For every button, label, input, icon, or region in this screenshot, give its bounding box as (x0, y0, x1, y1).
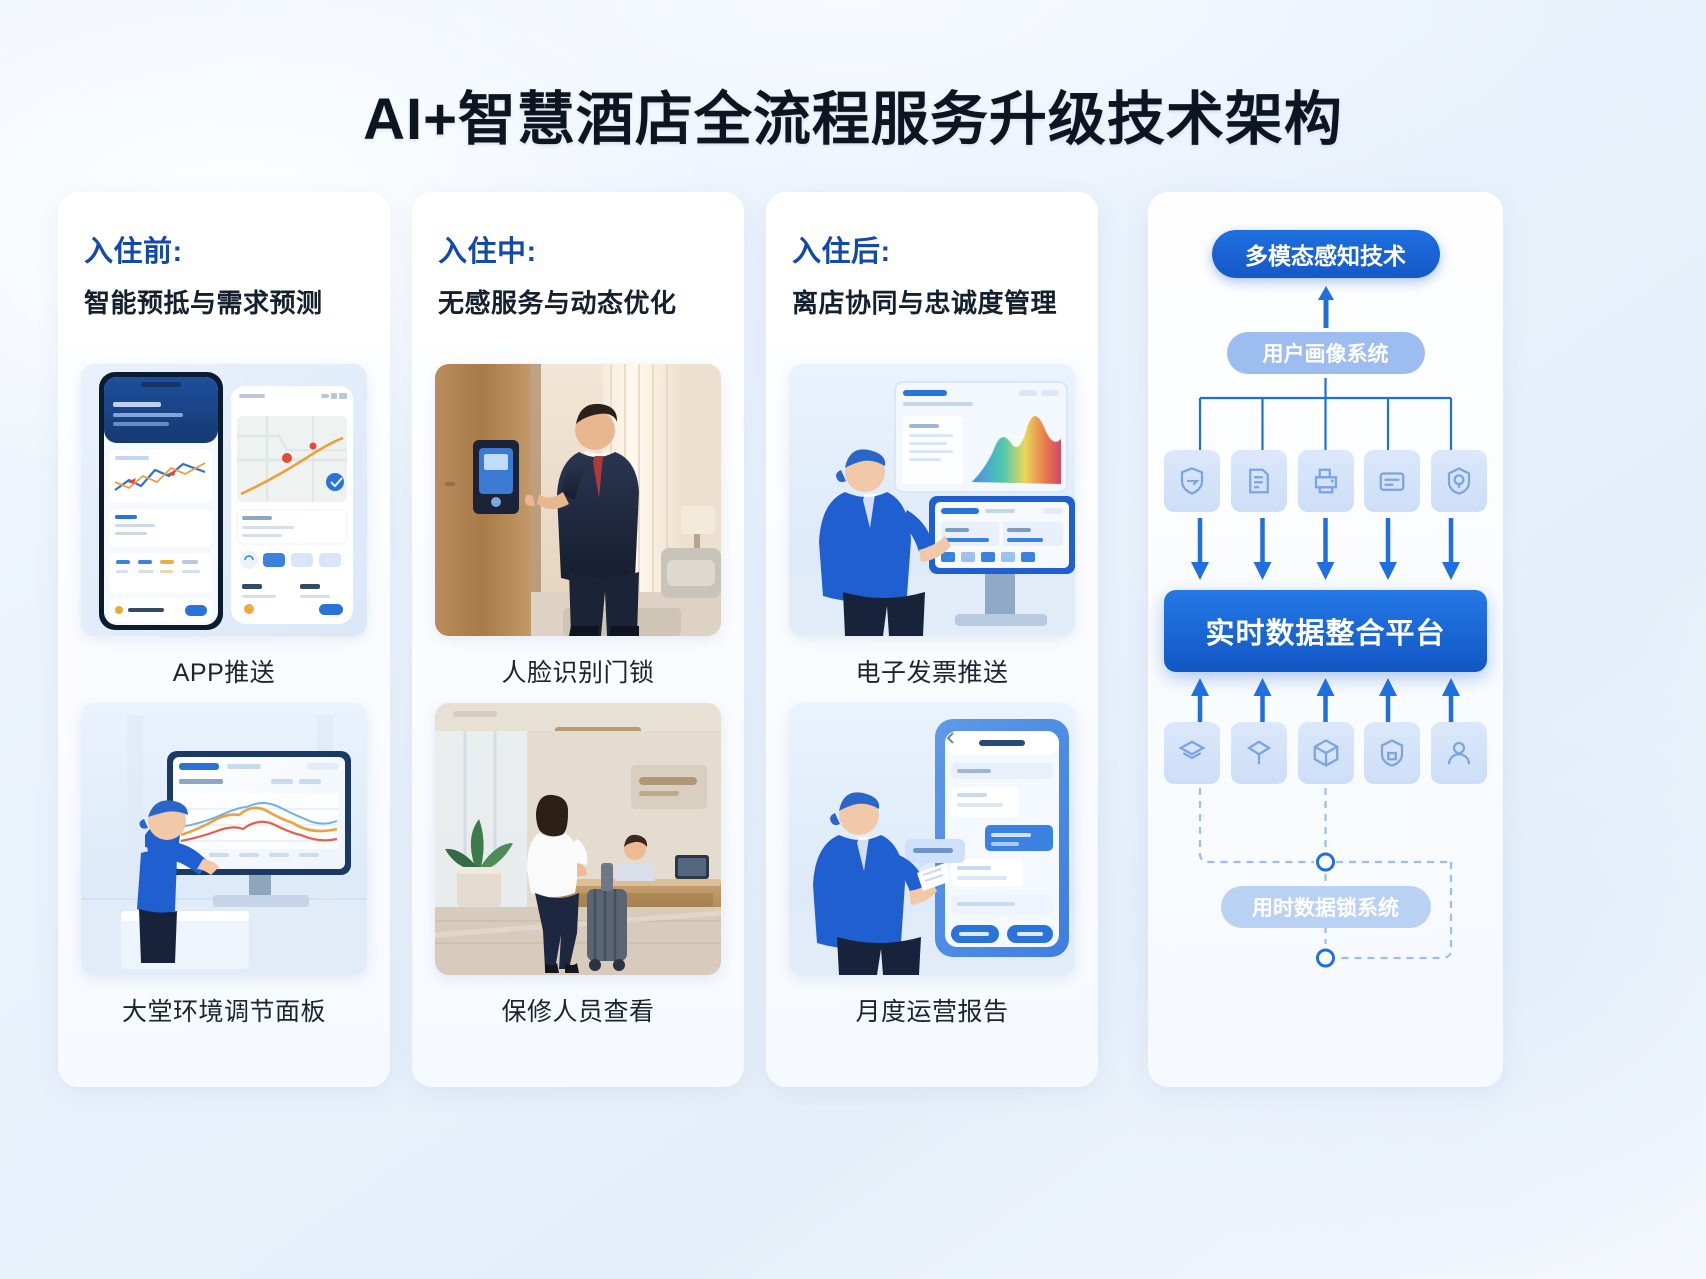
stage-column-during-checkin: 入住中: 无感服务与动态优化 (412, 192, 744, 1087)
id-card-icon[interactable] (1364, 450, 1420, 512)
app-push-phone-screens[interactable] (81, 364, 367, 636)
stage-subtitle: 智能预抵与需求预测 (84, 283, 364, 320)
column-header: 入住后: 离店协同与忠诚度管理 (766, 192, 1098, 346)
stage-label: 入住前: (84, 228, 364, 270)
list-item[interactable]: 保修人员查看 (434, 703, 722, 1028)
list-item[interactable]: 大堂环境调节面板 (80, 703, 368, 1028)
arch-node-realtime-data-lock-system[interactable]: 用时数据锁系统 (1221, 886, 1431, 928)
card-caption: 人脸识别门锁 (501, 653, 654, 689)
stage-columns: 入住前: 智能预抵与需求预测 (58, 192, 1098, 1087)
document-report-icon[interactable] (1231, 450, 1287, 512)
arch-node-realtime-data-platform[interactable]: 实时数据整合平台 (1164, 590, 1487, 672)
arch-node-label: 实时数据整合平台 (1205, 610, 1445, 652)
stage-column-post-checkout: 入住后: 离店协同与忠诚度管理 (766, 192, 1098, 1087)
stage-subtitle: 离店协同与忠诚度管理 (792, 283, 1072, 320)
arrows-up-to-platform (1164, 678, 1487, 722)
electronic-invoice-kiosk[interactable] (789, 364, 1075, 636)
card-caption: APP推送 (173, 653, 276, 689)
stage-label: 入住中: (438, 228, 718, 270)
security-badge-icon[interactable] (1431, 450, 1487, 512)
page-title: AI+智慧酒店全流程服务升级技术架构 (0, 72, 1706, 156)
lobby-environment-dashboard[interactable] (81, 703, 367, 975)
location-pin-icon[interactable] (1231, 722, 1287, 784)
printer-icon[interactable] (1298, 450, 1354, 512)
card-caption: 保修人员查看 (501, 992, 654, 1028)
list-item[interactable]: APP推送 (80, 364, 368, 689)
card-caption: 大堂环境调节面板 (122, 992, 326, 1028)
list-item[interactable]: 月度运营报告 (788, 703, 1076, 1028)
front-desk-staff-checkin[interactable] (435, 703, 721, 975)
card-list: APP推送 (58, 346, 390, 1048)
architecture-panel: 多模态感知技术 用户画像系统 (1148, 192, 1503, 1087)
capability-icon-row-bottom (1164, 722, 1487, 784)
stage-label: 入住后: (792, 228, 1072, 270)
stage-column-pre-checkin: 入住前: 智能预抵与需求预测 (58, 192, 390, 1087)
card-list: 电子发票推送 (766, 346, 1098, 1048)
arch-node-user-profile-system[interactable]: 用户画像系统 (1227, 332, 1425, 374)
capability-icon-row-top (1164, 450, 1487, 512)
arch-node-multimodal-sensing[interactable]: 多模态感知技术 (1212, 230, 1440, 278)
layers-pin-icon[interactable] (1164, 722, 1220, 784)
arch-node-label: 多模态感知技术 (1245, 237, 1406, 271)
cube-box-icon[interactable] (1298, 722, 1354, 784)
arrows-down-to-platform (1164, 518, 1487, 584)
card-list: 人脸识别门锁 (412, 346, 744, 1048)
list-item[interactable]: 人脸识别门锁 (434, 364, 722, 689)
arch-node-label: 用时数据锁系统 (1252, 892, 1399, 922)
card-caption: 电子发票推送 (855, 653, 1008, 689)
list-item[interactable]: 电子发票推送 (788, 364, 1076, 689)
card-caption: 月度运营报告 (855, 992, 1008, 1028)
column-header: 入住中: 无感服务与动态优化 (412, 192, 744, 346)
shield-check-icon[interactable] (1164, 450, 1220, 512)
monthly-operation-report-phone[interactable] (789, 703, 1075, 975)
arrow-up-icon (1317, 284, 1335, 328)
face-recognition-door-lock[interactable] (435, 364, 721, 636)
tree-connector (1164, 378, 1487, 452)
column-header: 入住前: 智能预抵与需求预测 (58, 192, 390, 346)
arch-node-label: 用户画像系统 (1263, 338, 1389, 368)
user-profile-icon[interactable] (1431, 722, 1487, 784)
shield-lock-icon[interactable] (1364, 722, 1420, 784)
stage-subtitle: 无感服务与动态优化 (438, 283, 718, 320)
